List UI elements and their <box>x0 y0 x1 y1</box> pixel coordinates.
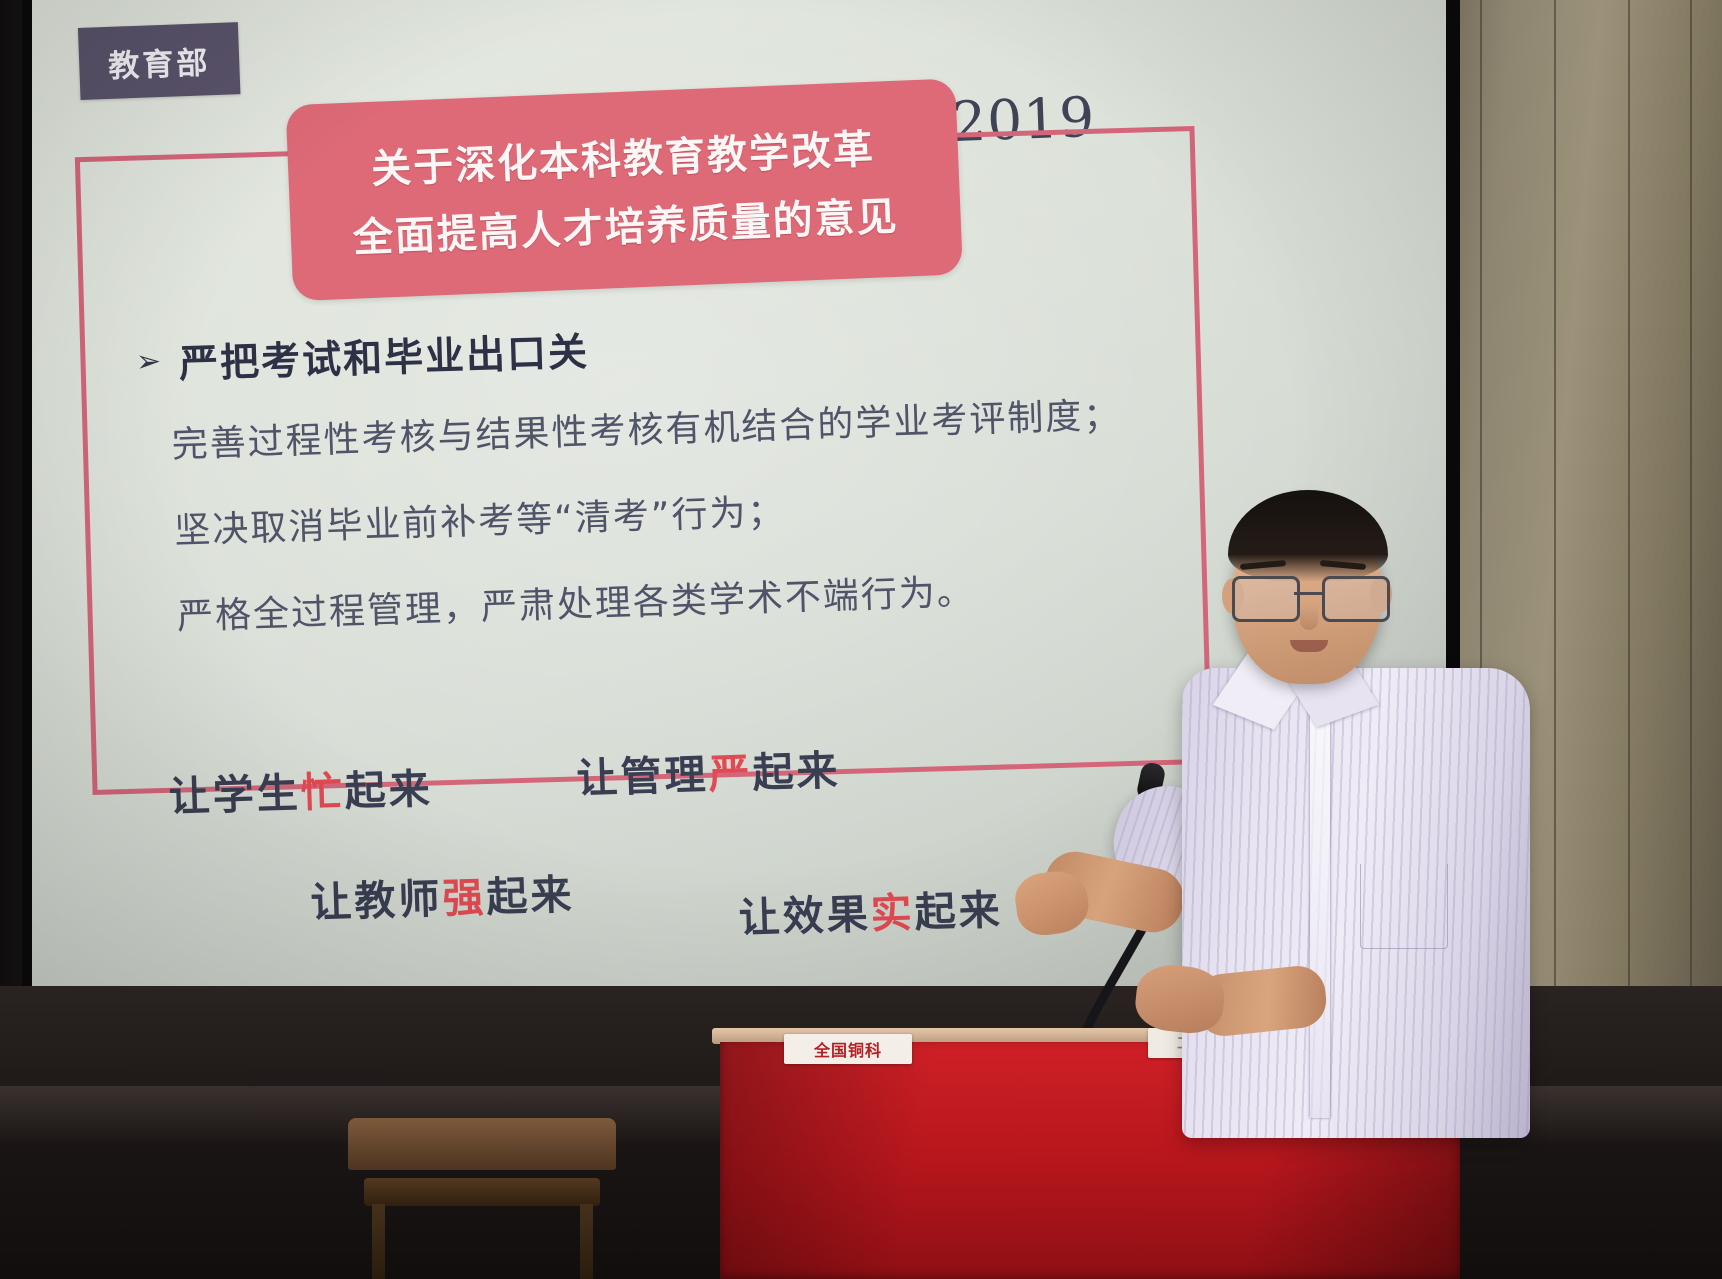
photo-scene: 教育部 2019 关于深化本科教育教学改革 全面提高人才培养质量的意见 ➢ 严把… <box>0 0 1722 1279</box>
wooden-chair <box>348 1118 616 1279</box>
body-line: 坚决取消毕业前补考等“清考”行为； <box>173 474 1074 554</box>
slide-title-banner: 关于深化本科教育教学改革 全面提高人才培养质量的意见 <box>286 78 963 301</box>
slogan-management: 让管理严起来 <box>576 736 842 804</box>
shirt-placket <box>1310 678 1330 1118</box>
slogan-prefix: 让管理 <box>576 751 709 803</box>
ministry-of-education-badge: 教育部 <box>78 22 241 100</box>
title-line-2: 全面提高人才培养质量的意见 <box>352 184 900 264</box>
chair-seat <box>364 1178 600 1206</box>
presenter-mouth <box>1290 640 1328 652</box>
slogan-prefix: 让效果 <box>738 890 871 942</box>
slogan-highlight: 忙 <box>300 768 345 817</box>
glasses-bridge <box>1294 592 1322 595</box>
glasses-lens-left <box>1232 576 1300 622</box>
slogan-suffix: 起来 <box>344 765 433 816</box>
slogan-suffix: 起来 <box>752 746 841 797</box>
slogan-students: 让学生忙起来 <box>168 755 434 823</box>
slogan-prefix: 让学生 <box>168 769 301 821</box>
presenter <box>960 500 1580 1140</box>
slogan-highlight: 严 <box>708 749 753 798</box>
chair-back <box>348 1118 616 1170</box>
chair-leg <box>372 1204 385 1279</box>
slide-body-list: 完善过程性考核与结果性考核有机结合的学业考评制度； 坚决取消毕业前补考等“清考”… <box>171 388 1079 674</box>
slogan-highlight: 强 <box>442 873 487 922</box>
body-line: 严格全过程管理，严肃处理各类学术不端行为。 <box>176 560 1077 640</box>
slogan-highlight: 实 <box>870 889 915 938</box>
arrow-bullet-icon: ➢ <box>136 347 162 378</box>
presenter-shirt <box>1182 668 1530 1138</box>
shirt-stripes <box>1182 668 1530 1138</box>
shirt-pocket <box>1360 864 1448 949</box>
presenter-nose <box>1300 604 1318 630</box>
slogan-suffix: 起来 <box>486 871 575 922</box>
title-line-1: 关于深化本科教育教学改革 <box>370 117 876 195</box>
slogan-prefix: 让教师 <box>310 875 443 927</box>
chair-leg <box>580 1204 593 1279</box>
podium-plate-left: 全国铜科 <box>784 1034 912 1064</box>
glasses-lens-right <box>1322 576 1390 622</box>
slogan-teachers: 让教师强起来 <box>309 861 575 929</box>
